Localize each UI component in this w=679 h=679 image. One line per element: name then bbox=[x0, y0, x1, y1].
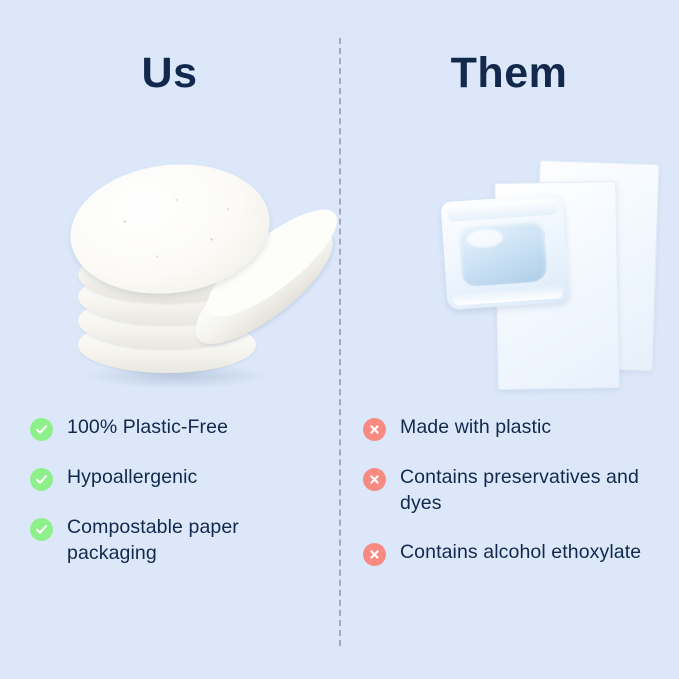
comparison-graphic: Us Them bbox=[0, 0, 679, 679]
pod-seal-top bbox=[447, 198, 558, 222]
tablet-stack-illustration bbox=[60, 165, 310, 405]
feature-label: Contains alcohol ethoxylate bbox=[400, 540, 641, 566]
feature-label: 100% Plastic-Free bbox=[67, 415, 228, 441]
product-image-them bbox=[339, 130, 679, 400]
pod-and-sheets-illustration bbox=[444, 140, 674, 390]
check-icon bbox=[30, 418, 53, 441]
list-item: Hypoallergenic bbox=[30, 465, 330, 491]
pod-seal-bottom bbox=[453, 284, 564, 306]
plastic-pod bbox=[440, 194, 569, 310]
feature-label: Made with plastic bbox=[400, 415, 551, 441]
pod-liquid bbox=[458, 219, 548, 287]
check-icon bbox=[30, 518, 53, 541]
list-item: Compostable paper packaging bbox=[30, 515, 330, 566]
cross-icon bbox=[363, 468, 386, 491]
product-image-us bbox=[0, 130, 339, 400]
list-item: 100% Plastic-Free bbox=[30, 415, 330, 441]
cross-icon bbox=[363, 418, 386, 441]
check-icon bbox=[30, 468, 53, 491]
list-item: Contains alcohol ethoxylate bbox=[363, 540, 663, 566]
feature-label: Contains preservatives and dyes bbox=[400, 465, 663, 516]
list-item: Contains preservatives and dyes bbox=[363, 465, 663, 516]
feature-list-them: Made with plastic Contains preservatives… bbox=[363, 415, 663, 590]
heading-us: Us bbox=[0, 50, 339, 97]
list-item: Made with plastic bbox=[363, 415, 663, 441]
feature-label: Hypoallergenic bbox=[67, 465, 197, 491]
heading-them: Them bbox=[339, 50, 679, 97]
feature-label: Compostable paper packaging bbox=[67, 515, 330, 566]
feature-list-us: 100% Plastic-Free Hypoallergenic Compost… bbox=[30, 415, 330, 590]
cross-icon bbox=[363, 543, 386, 566]
